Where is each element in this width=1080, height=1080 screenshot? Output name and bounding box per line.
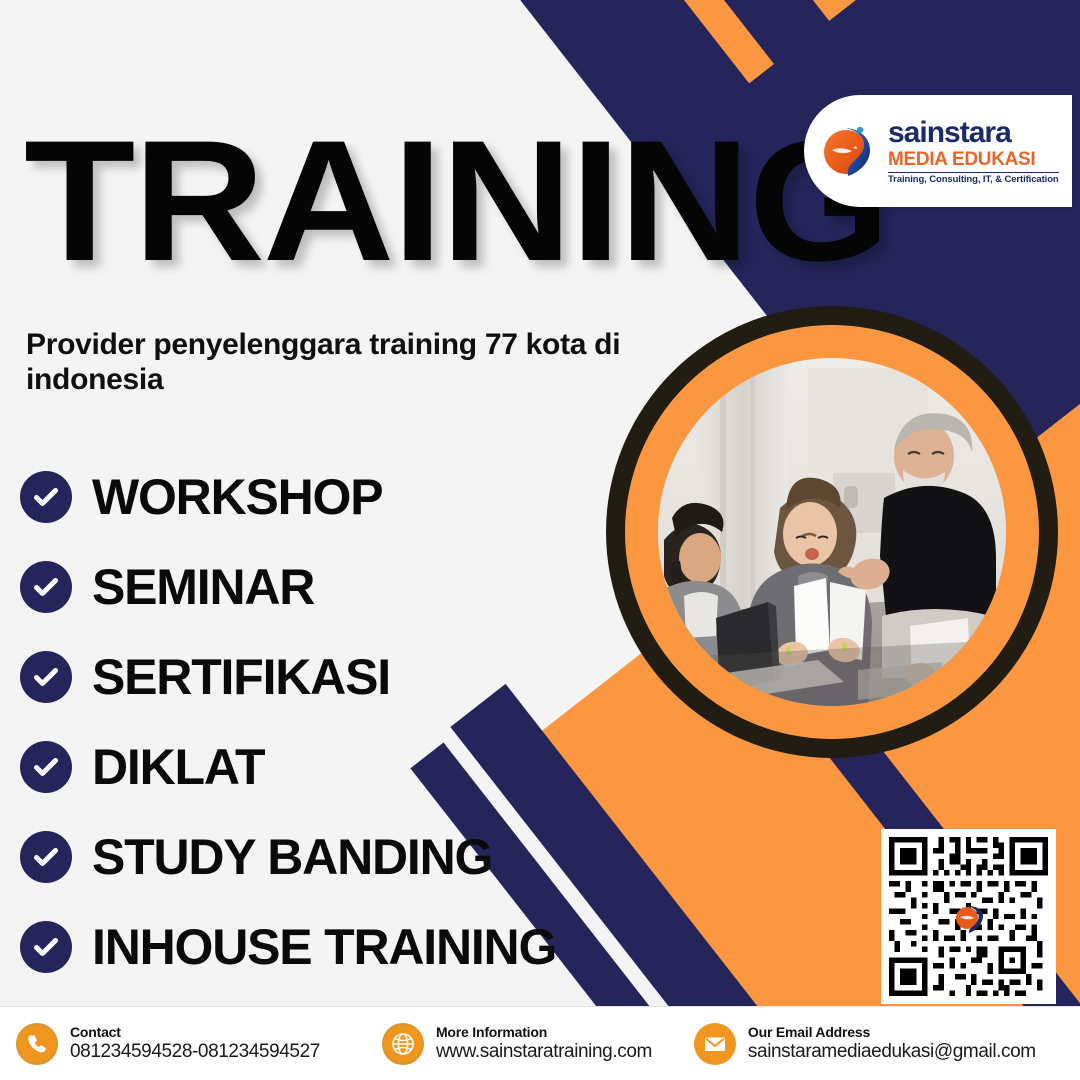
footer-label: Our Email Address	[748, 1025, 1036, 1041]
service-label: SEMINAR	[92, 558, 314, 616]
list-item: SERTIFIKASI	[20, 632, 556, 722]
service-label: INHOUSE TRAINING	[92, 918, 556, 976]
envelope-icon	[694, 1023, 736, 1065]
qr-code[interactable]	[881, 829, 1056, 1004]
footer-text-block: More Information www.sainstaratraining.c…	[436, 1025, 652, 1062]
globe-icon	[382, 1023, 424, 1065]
logo-tagline: Training, Consulting, IT, & Certificatio…	[888, 172, 1059, 185]
list-item: SEMINAR	[20, 542, 556, 632]
check-icon	[20, 651, 72, 703]
qr-center-logo-icon	[953, 901, 985, 933]
page-subtitle: Provider penyelenggara training 77 kota …	[26, 328, 686, 398]
page-title: TRAINING	[24, 126, 888, 277]
footer-contact-website[interactable]: More Information www.sainstaratraining.c…	[382, 1023, 652, 1065]
logo-wordmark: sainstara MEDIA EDUKASI Training, Consul…	[888, 118, 1059, 185]
footer-text-block: Contact 081234594528-081234594527	[70, 1025, 320, 1062]
photo-ring-outer	[606, 306, 1058, 758]
service-label: STUDY BANDING	[92, 828, 492, 886]
service-label: WORKSHOP	[92, 468, 382, 526]
training-poster: sainstara MEDIA EDUKASI Training, Consul…	[0, 0, 1080, 1080]
list-item: STUDY BANDING	[20, 812, 556, 902]
footer-value: sainstaramediaedukasi@gmail.com	[748, 1041, 1036, 1062]
logo-badge: sainstara MEDIA EDUKASI Training, Consul…	[804, 95, 1072, 207]
photo-ring-inner	[625, 325, 1039, 739]
footer-contact-email[interactable]: Our Email Address sainstaramediaedukasi@…	[694, 1023, 1036, 1065]
service-label: DIKLAT	[92, 738, 264, 796]
service-label: SERTIFIKASI	[92, 648, 390, 706]
list-item: WORKSHOP	[20, 452, 556, 542]
footer-contact-bar: Contact 081234594528-081234594527 More I…	[0, 1006, 1080, 1080]
footer-text-block: Our Email Address sainstaramediaedukasi@…	[748, 1025, 1036, 1062]
check-icon	[20, 741, 72, 793]
check-icon	[20, 471, 72, 523]
footer-contact-phone[interactable]: Contact 081234594528-081234594527	[16, 1023, 320, 1065]
phone-icon	[16, 1023, 58, 1065]
sainstara-logo-icon	[816, 118, 882, 184]
list-item: INHOUSE TRAINING	[20, 902, 556, 992]
footer-value: www.sainstaratraining.com	[436, 1041, 652, 1062]
footer-value: 081234594528-081234594527	[70, 1041, 320, 1062]
services-checklist: WORKSHOP SEMINAR SERTIFIKASI DIKLAT STUD	[20, 452, 556, 992]
logo-name: sainstara	[888, 118, 1059, 148]
footer-label: Contact	[70, 1025, 320, 1041]
list-item: DIKLAT	[20, 722, 556, 812]
check-icon	[20, 921, 72, 973]
check-icon	[20, 561, 72, 613]
check-icon	[20, 831, 72, 883]
logo-subtitle: MEDIA EDUKASI	[888, 150, 1059, 169]
training-photo	[658, 358, 1006, 706]
footer-label: More Information	[436, 1025, 652, 1041]
